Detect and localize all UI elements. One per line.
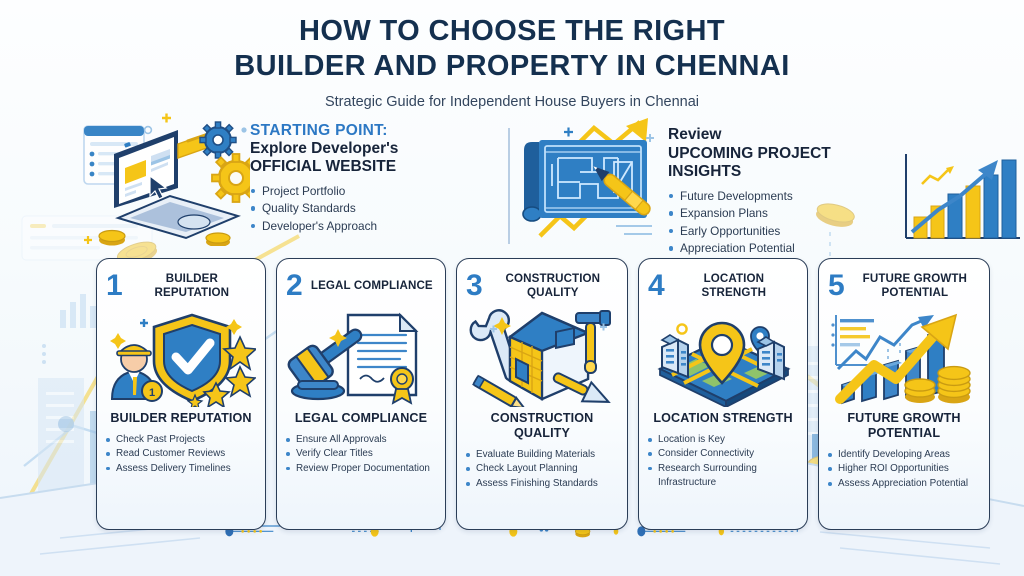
list-item: Future Developments [668,188,900,205]
list-item: Verify Clear Titles [286,447,436,461]
list-item: Assess Finishing Standards [466,477,618,491]
card-header-title: LOCATION STRENGTH [670,272,798,299]
card-bullet-list: Identify Developing Areas Higher ROI Opp… [828,448,980,491]
card-number: 3 [466,272,483,300]
steps-card-row: 1 BUILDER REPUTATION 1 [96,258,952,530]
card-bullet-list: Check Past Projects Read Customer Review… [106,433,256,476]
list-item: Review Proper Documentation [286,462,436,476]
starting-point-bullet-list: Project Portfolio Quality Standards Deve… [250,183,398,235]
card-bullet-list: Location is Key Consider Connectivity Re… [648,433,798,490]
card-header-title: BUILDER REPUTATION [128,272,256,299]
card-number: 1 [106,272,123,300]
card-header: 1 BUILDER REPUTATION [106,269,256,303]
insights-line2: UPCOMING PROJECT INSIGHTS [668,145,900,182]
card-title: LEGAL COMPLIANCE [286,411,436,426]
list-item: Developer's Approach [250,218,398,235]
card-future-growth-potential[interactable]: 5 FUTURE GROWTH POTENTIAL [818,258,990,530]
list-item: Location is Key [648,433,798,447]
map-pin-city-grid-icon [648,305,798,409]
list-item: Research Surrounding Infrastructure [648,462,798,491]
list-item: Early Opportunities [668,223,900,240]
card-header: 5 FUTURE GROWTH POTENTIAL [828,269,980,303]
card-number: 4 [648,272,665,300]
gavel-document-seal-icon [286,305,436,409]
list-item: Evaluate Building Materials [466,448,618,462]
card-title: LOCATION STRENGTH [648,411,798,426]
list-item: Read Customer Reviews [106,447,256,461]
starting-point-eyebrow: STARTING POINT: [250,122,398,140]
card-header: 2 LEGAL COMPLIANCE [286,269,436,303]
card-header: 4 LOCATION STRENGTH [648,269,798,303]
card-builder-reputation[interactable]: 1 BUILDER REPUTATION 1 [96,258,266,530]
page-subtitle: Strategic Guide for Independent House Bu… [0,94,1024,110]
page-title: HOW TO CHOOSE THE RIGHT BUILDER AND PROP… [0,14,1024,85]
card-legal-compliance[interactable]: 2 LEGAL COMPLIANCE [276,258,446,530]
project-insights-text: Review UPCOMING PROJECT INSIGHTS Future … [668,112,900,258]
starting-point-text: STARTING POINT: Explore Developer's OFFI… [250,112,398,235]
card-title: FUTURE GROWTH POTENTIAL [828,411,980,441]
list-item: Check Past Projects [106,433,256,447]
card-location-strength[interactable]: 4 LOCATION STRENGTH [638,258,808,530]
section-divider [508,128,510,244]
list-item: Quality Standards [250,200,398,217]
list-item: Assess Delivery Timelines [106,462,256,476]
card-header-title: CONSTRUCTION QUALITY [488,272,618,299]
card-header-title: LEGAL COMPLIANCE [308,279,436,293]
list-item: Ensure All Approvals [286,433,436,447]
list-item: Identify Developing Areas [828,448,980,462]
growth-bar-chart-icon [896,150,1024,251]
card-bullet-list: Evaluate Building Materials Check Layout… [466,448,618,491]
blueprint-floorplan-pen-icon [518,116,668,249]
card-number: 2 [286,272,303,300]
starting-point-line3: OFFICIAL WEBSITE [250,158,398,177]
top-sections: STARTING POINT: Explore Developer's OFFI… [0,112,1024,252]
card-bullet-list: Ensure All Approvals Verify Clear Titles… [286,433,436,476]
page-header: HOW TO CHOOSE THE RIGHT BUILDER AND PROP… [0,14,1024,110]
card-construction-quality[interactable]: 3 CONSTRUCTION QUALITY [456,258,628,530]
builder-shield-checkmark-stars-icon: 1 [106,305,256,409]
title-line-2: BUILDER AND PROPERTY IN CHENNAI [0,49,1024,84]
list-item: Project Portfolio [250,183,398,200]
list-item: Expansion Plans [668,205,900,222]
svg-text:1: 1 [149,387,155,399]
starting-point-line2: Explore Developer's [250,140,398,159]
card-title: BUILDER REPUTATION [106,411,256,426]
project-insights-section: Review UPCOMING PROJECT INSIGHTS Future … [500,112,1024,258]
starting-point-section: STARTING POINT: Explore Developer's OFFI… [0,112,500,251]
insights-line1: Review [668,126,900,145]
house-tools-hammer-wrench-icon [466,305,618,409]
list-item: Check Layout Planning [466,462,618,476]
card-header: 3 CONSTRUCTION QUALITY [466,269,618,303]
list-item: Higher ROI Opportunities [828,462,980,476]
card-number: 5 [828,272,845,300]
laptop-website-gears-icon [78,112,250,251]
insights-bullet-list: Future Developments Expansion Plans Earl… [668,188,900,258]
title-line-1: HOW TO CHOOSE THE RIGHT [0,14,1024,49]
card-title: CONSTRUCTION QUALITY [466,411,618,441]
list-item: Appreciation Potential [668,240,900,257]
list-item: Assess Appreciation Potential [828,477,980,491]
card-header-title: FUTURE GROWTH POTENTIAL [850,272,980,299]
list-item: Consider Connectivity [648,447,798,461]
growth-arrow-bars-coins-icon [828,305,980,409]
